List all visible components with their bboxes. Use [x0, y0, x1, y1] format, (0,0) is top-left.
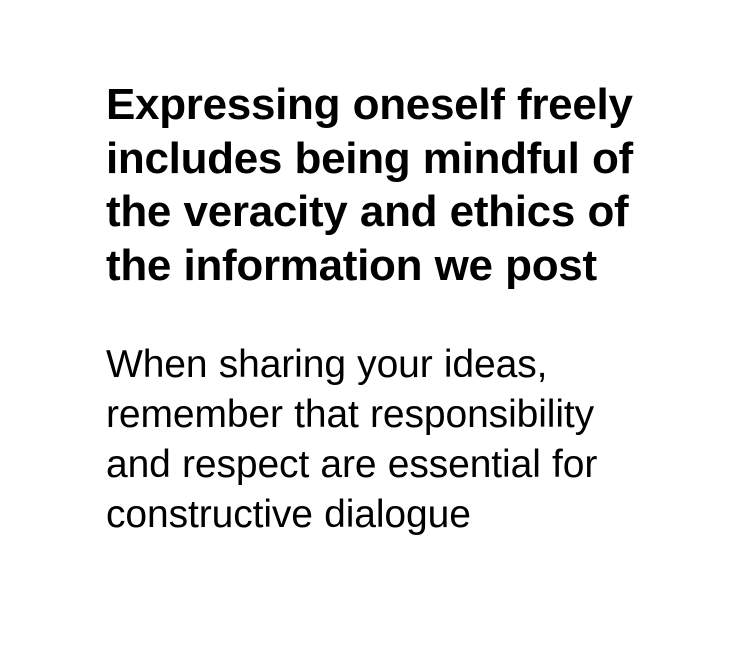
- slide-body-text: When sharing your ideas, remember that r…: [106, 340, 646, 540]
- slide-headline: Expressing oneself freely includes being…: [106, 78, 646, 292]
- slide-content: Expressing oneself freely includes being…: [106, 78, 646, 540]
- text-slide: Expressing oneself freely includes being…: [0, 0, 750, 650]
